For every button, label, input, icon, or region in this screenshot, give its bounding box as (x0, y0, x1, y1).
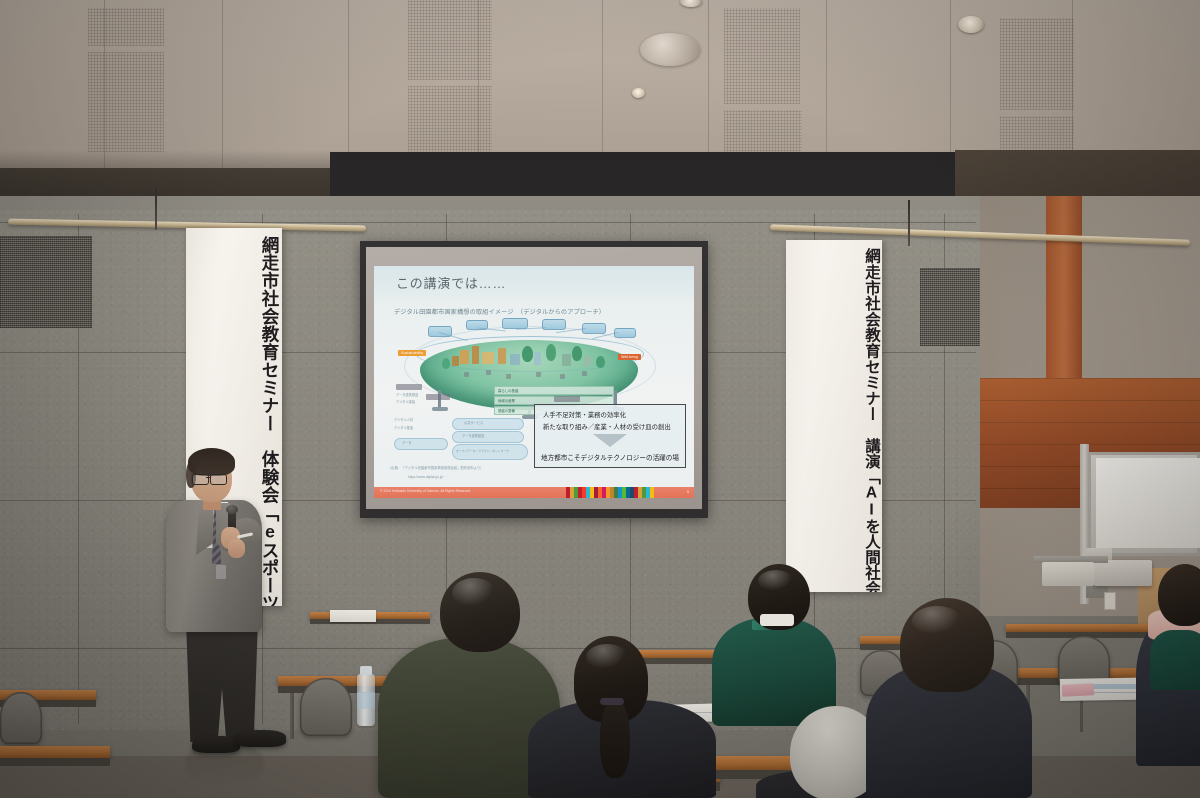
diagram-bar-label: 地域の産業 (498, 398, 515, 403)
wall-vent-grille (0, 236, 92, 328)
diagram-bar-label: 暮らしの基盤 (498, 388, 518, 393)
banner-right-line-1: 網走市社会教育セミナー 講演 (863, 248, 879, 469)
presentation-slide: この講演では…… デジタル田園都市国家構想の取組イメージ （デジタルからのアプロ… (374, 266, 694, 498)
diagram-pill-label: データ連携基盤 (462, 434, 484, 439)
slide-subtitle: デジタル田園都市国家構想の取組イメージ （デジタルからのアプローチ） (394, 307, 605, 316)
pink-folder (1062, 683, 1095, 697)
diagram-pill-label: データ (402, 441, 412, 446)
slide-copyright: © 2024 Hokkaido University of Science. A… (380, 489, 471, 493)
desk (0, 746, 110, 758)
seminar-hall-photo: 網走市社会教育セミナー 体験会 「eスポーツとVRの世界を体験」 講師 株式会社… (0, 0, 1200, 798)
wall-socket-icon (1104, 592, 1116, 610)
slide-footer-bar: © 2024 Hokkaido University of Science. A… (374, 487, 694, 498)
ceiling-projector-icon (1042, 562, 1094, 586)
desk (1006, 624, 1156, 632)
eyeglasses-icon (210, 474, 227, 485)
whiteboard-surface (1096, 458, 1200, 548)
diagram-side-note: デジタル人材 (394, 418, 413, 423)
slide-citation-url: https://www.digital.go.jp/ (408, 475, 443, 480)
ai-lecture-banner: 網走市社会教育セミナー 講演 「AIを人間社会のパートナーにするために」 講師 … (786, 240, 882, 592)
attendee-scarf-head (1158, 564, 1200, 626)
whiteboard-printer-unit (1094, 560, 1152, 586)
diagram-side-note: デジタル基盤 (394, 426, 413, 431)
presenter-shoe (192, 736, 240, 753)
attendee-ponytail-hair (600, 700, 630, 778)
diagram-side-note: データ連携基盤 (396, 393, 418, 398)
eyeglasses-bridge (206, 477, 211, 478)
ceiling-downlight-icon (958, 16, 984, 33)
ceiling-speaker-icon (640, 33, 700, 66)
banner-right-line-2: 「AIを人間社会のパートナーにするために」 (863, 469, 879, 592)
diagram-pill-label: オープンデータ／クラウド／ネットワーク (456, 449, 509, 453)
ceiling-downlight-icon (632, 88, 645, 98)
callout-line-1: 人手不足対策・業務の効率化 (543, 410, 626, 419)
hair-tie-icon (600, 698, 624, 705)
seminar-handout (330, 610, 376, 622)
down-arrow-icon (593, 434, 627, 447)
wall-vent-grille (920, 268, 988, 346)
slide-callout-box: 人手不足対策・業務の効率化 新たな取り組み／産業・人材の受け皿の創出 地方都市こ… (534, 404, 686, 468)
diagram-pill-label: 公共サービス (464, 421, 483, 426)
presenter-shoe (234, 730, 286, 747)
bottle-cap (360, 666, 372, 675)
microphone-head-icon (226, 505, 238, 514)
wellbeing-tag: Well-being (618, 354, 641, 360)
presenter-badge (216, 565, 226, 579)
slide-citation: （出典：「デジタル田園都市国家構想実現会議」配布資料より） (388, 466, 483, 471)
chair (300, 678, 352, 736)
eyeglasses-icon (192, 474, 209, 485)
wood-pillar (1046, 196, 1082, 381)
presenter-hand (228, 539, 245, 558)
callout-conclusion: 地方都市こそデジタルテクノロジーの活躍の場 (541, 452, 679, 462)
sustainability-tag: Sustainability (398, 350, 426, 356)
attendee-back-green-body (1150, 630, 1200, 690)
diagram-side-note: デジタル実装 (396, 400, 415, 405)
diagram-bar-label: 基盤の整備 (498, 408, 515, 413)
chair (0, 692, 42, 744)
slide-title: この講演では…… (396, 273, 506, 292)
slide-page-number: 5 (687, 490, 689, 494)
banner-left-line-1: 網走市社会教育セミナー 体験会 (260, 236, 279, 504)
banner-left-line-2: 「eスポーツとVRの世界を体験」 (260, 504, 279, 606)
callout-line-2: 新たな取り組み／産業・人材の受け皿の創出 (543, 422, 671, 431)
